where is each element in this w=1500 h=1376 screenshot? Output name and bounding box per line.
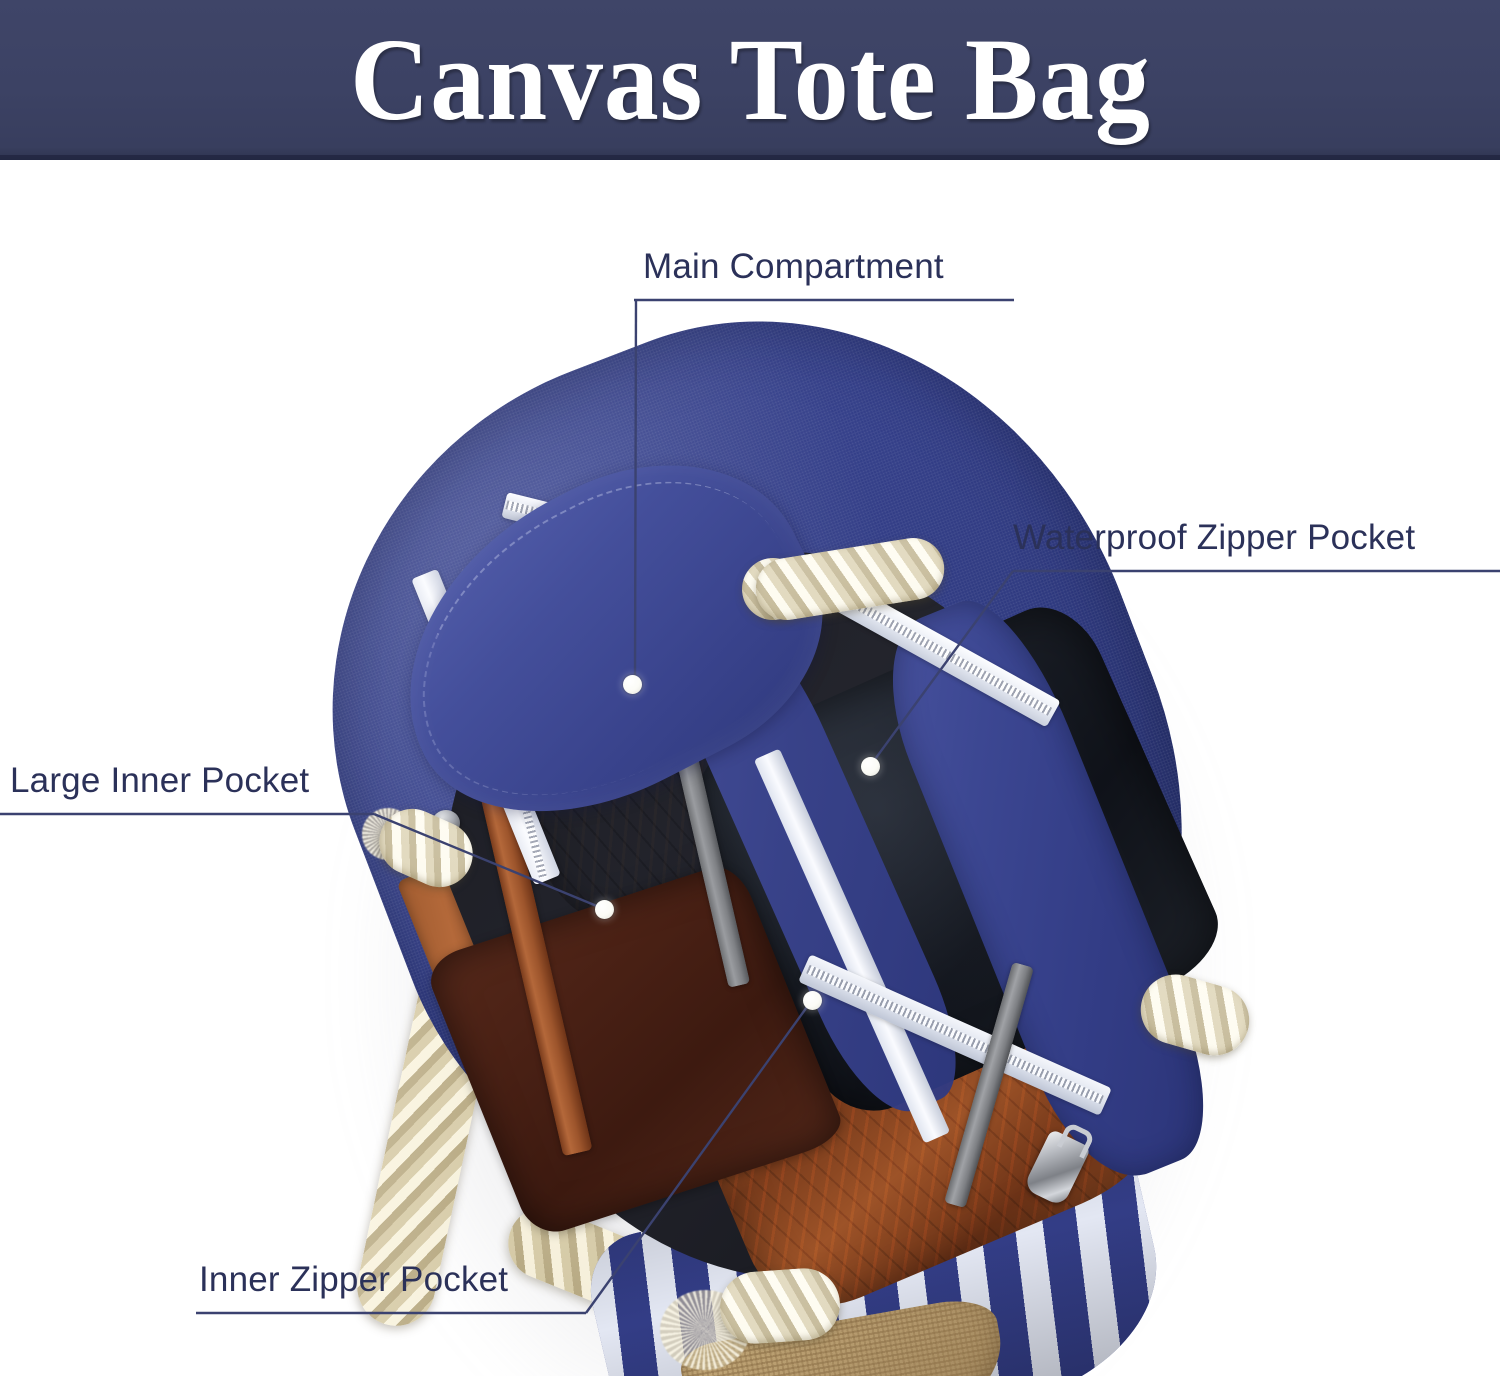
- product-photo: [0, 160, 1500, 1376]
- title-banner: Canvas Tote Bag: [0, 0, 1500, 160]
- rope-knot-bottom: [718, 1266, 843, 1346]
- page-title: Canvas Tote Bag: [350, 21, 1151, 139]
